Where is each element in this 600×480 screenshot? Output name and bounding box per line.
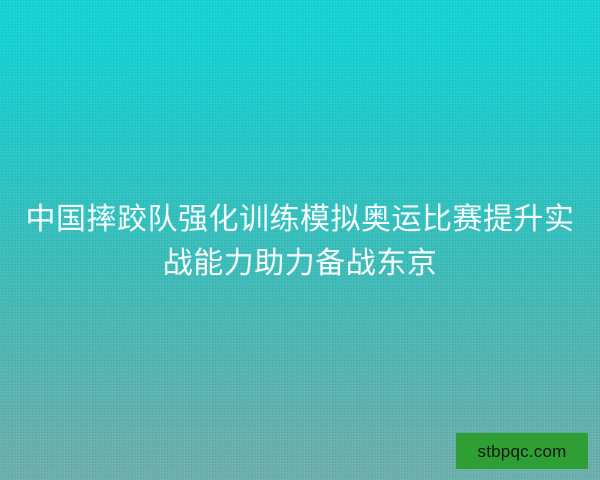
- watermark-badge: stbpqc.com: [456, 433, 588, 469]
- headline-text: 中国摔跤队强化训练模拟奥运比赛提升实战能力助力备战东京: [0, 198, 600, 286]
- watermark-label: stbpqc.com: [478, 443, 567, 460]
- image-card: 中国摔跤队强化训练模拟奥运比赛提升实战能力助力备战东京 stbpqc.com: [0, 0, 600, 480]
